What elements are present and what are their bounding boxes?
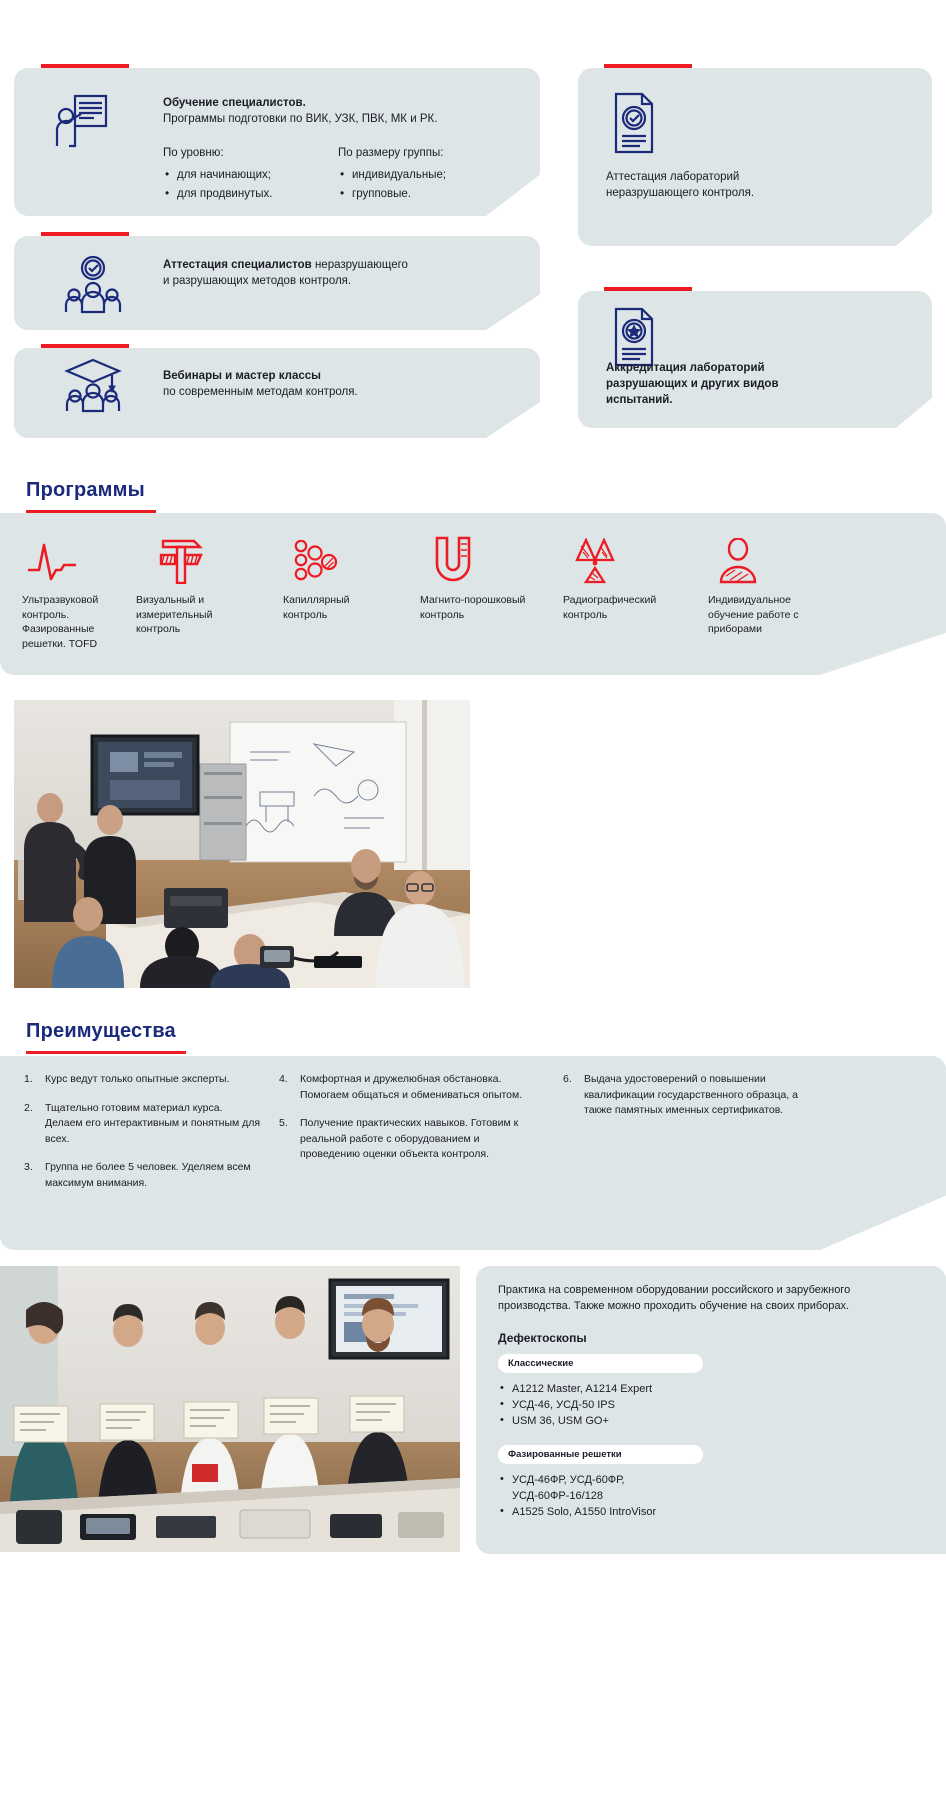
advantage-text: Комфортная и дружелюбная обстанов­ка. По… bbox=[300, 1073, 522, 1101]
advantages-title-underline bbox=[26, 1051, 186, 1054]
advantages-column-3: 6. Выдача удостоверений о повышении квал… bbox=[561, 1072, 826, 1132]
advantage-number: 2. bbox=[24, 1101, 33, 1117]
lab-attestation-line2: неразрушающего контроля. bbox=[606, 187, 754, 199]
advantage-text: Курс ведут только опытные эксперты. bbox=[45, 1073, 230, 1085]
list-item: УСД-46ФР, УСД-60ФР, УСД-60ФР-16/128 bbox=[498, 1472, 698, 1504]
lab-accreditation-line3: испытаний. bbox=[606, 394, 673, 406]
specialists-bold: Аттестация специалистов bbox=[163, 259, 312, 271]
document-star-icon bbox=[608, 306, 660, 368]
list-item: A1525 Solo, A1550 IntroVisor bbox=[498, 1504, 918, 1520]
classroom-training-photo bbox=[14, 700, 470, 988]
list-item: A1212 Master, A1214 Expert bbox=[498, 1381, 918, 1397]
equipment-list-classic: A1212 Master, A1214 Expert УСД-46, УСД-5… bbox=[498, 1381, 918, 1429]
card-lab-accreditation-text: Аккредитация лабораторий разрушающих и д… bbox=[606, 360, 916, 408]
list-item: для продвинутых. bbox=[163, 185, 323, 204]
list-item: групповые. bbox=[338, 185, 518, 204]
advantage-item: 5. Получение практических навыков. Готов… bbox=[277, 1116, 542, 1163]
card-lab-attestation-text: Аттестация лабораторий неразрушающего ко… bbox=[606, 169, 906, 201]
accent-bar-lab-accreditation bbox=[604, 287, 692, 291]
equipment-group-pill-classic: Классические bbox=[498, 1354, 703, 1373]
radiation-icon bbox=[570, 538, 620, 584]
training-level-head: По уровню: bbox=[163, 145, 323, 161]
card-training-title-rest: Программы подготовки по ВИК, УЗК, ПВК, М… bbox=[163, 113, 437, 125]
advantage-item: 3. Группа не более 5 человек. Уделяем вс… bbox=[22, 1160, 262, 1191]
presenter-board-icon bbox=[50, 90, 112, 152]
webinars-line2: по современным методам контроля. bbox=[163, 386, 358, 398]
advantage-item: 1. Курс ведут только опытные эксперты. bbox=[22, 1072, 262, 1088]
magnet-icon bbox=[432, 536, 474, 584]
advantage-text: Группа не более 5 человек. Уделяем всем … bbox=[45, 1161, 251, 1189]
list-item: для начинающих; bbox=[163, 166, 323, 185]
card-training-title-bold: Обучение специалистов. bbox=[163, 97, 306, 109]
advantage-text: Выдача удостоверений о повышении квалифи… bbox=[584, 1073, 798, 1116]
waveform-icon bbox=[28, 541, 76, 583]
droplets-icon bbox=[292, 540, 338, 584]
advantage-number: 3. bbox=[24, 1160, 33, 1176]
lab-accreditation-line2: разрушающих и других видов bbox=[606, 378, 779, 390]
advantage-item: 4. Комфортная и дружелюбная обстанов­ка.… bbox=[277, 1072, 542, 1103]
equipment-list-phased-array: УСД-46ФР, УСД-60ФР, УСД-60ФР-16/128 A152… bbox=[498, 1472, 918, 1520]
training-level-list: для начинающих; для продвинутых. bbox=[163, 166, 323, 204]
people-check-icon bbox=[62, 254, 124, 316]
programs-title-underline bbox=[26, 510, 156, 513]
equipment-heading: Дефектоскопы bbox=[498, 1331, 918, 1345]
card-specialists-text: Аттестация специалистов неразрушающего и… bbox=[163, 257, 503, 289]
graduates-with-certificates-photo bbox=[0, 1266, 460, 1552]
accent-bar-webinars bbox=[41, 344, 129, 348]
accent-bar-specialists bbox=[41, 232, 129, 236]
program-label-4: Радиографический контроль bbox=[563, 593, 675, 622]
program-label-5: Индивидуальное обучение работе с прибора… bbox=[708, 593, 820, 637]
advantage-number: 5. bbox=[279, 1116, 288, 1132]
document-check-icon bbox=[608, 91, 660, 155]
advantage-text: Тщательно готовим материал курса. Делаем… bbox=[45, 1102, 260, 1145]
accent-bar-lab-attestation bbox=[604, 64, 692, 68]
program-label-0: Ультразвуковой контроль. Фазированные ре… bbox=[22, 593, 132, 651]
advantage-text: Получение практических навыков. Готовим … bbox=[300, 1117, 518, 1160]
card-training-title: Обучение специалистов. Программы подгото… bbox=[163, 95, 513, 127]
specialists-line2: и разрушающих методов контроля. bbox=[163, 275, 351, 287]
list-item: USM 36, USM GO+ bbox=[498, 1413, 918, 1429]
graduation-people-icon bbox=[62, 355, 124, 413]
lab-attestation-line1: Аттестация лабораторий bbox=[606, 171, 739, 183]
accent-bar-training bbox=[41, 64, 129, 68]
list-item: УСД-46, УСД-50 IPS bbox=[498, 1397, 918, 1413]
list-item: индивидуальные; bbox=[338, 166, 518, 185]
advantage-item: 6. Выдача удостоверений о повышении квал… bbox=[561, 1072, 826, 1119]
training-groupsize-list: индивидуальные; групповые. bbox=[338, 166, 518, 204]
specialists-rest: неразрушающего bbox=[312, 259, 408, 271]
advantages-column-2: 4. Комфортная и дружелюбная обстанов­ка.… bbox=[277, 1072, 542, 1176]
advantage-item: 2. Тщательно готовим материал курса. Дел… bbox=[22, 1101, 262, 1148]
program-label-2: Капиллярный контроль bbox=[283, 593, 393, 622]
training-groupsize-head: По размеру группы: bbox=[338, 145, 518, 161]
page-title-advantages: Преимущества bbox=[26, 1020, 176, 1043]
ruler-caliper-icon bbox=[158, 538, 204, 584]
webinars-bold: Вебинары и мастер классы bbox=[163, 370, 321, 382]
page-title-programs: Программы bbox=[26, 479, 145, 502]
advantage-number: 6. bbox=[563, 1072, 572, 1088]
advantage-number: 1. bbox=[24, 1072, 33, 1088]
program-label-1: Визуальный и измерительный контроль bbox=[136, 593, 244, 637]
equipment-group-pill-phased-array: Фазированные решетки bbox=[498, 1445, 703, 1464]
advantages-column-1: 1. Курс ведут только опытные эксперты. 2… bbox=[22, 1072, 262, 1204]
person-icon bbox=[718, 538, 758, 584]
equipment-intro: Практика на современном оборудовании рос… bbox=[498, 1282, 918, 1314]
program-label-3: Магнито-порошковый контроль bbox=[420, 593, 530, 622]
card-webinars-text: Вебинары и мастер классы по современным … bbox=[163, 368, 503, 400]
lab-accreditation-line1: Аккредитация лабораторий bbox=[606, 362, 765, 374]
advantage-number: 4. bbox=[279, 1072, 288, 1088]
